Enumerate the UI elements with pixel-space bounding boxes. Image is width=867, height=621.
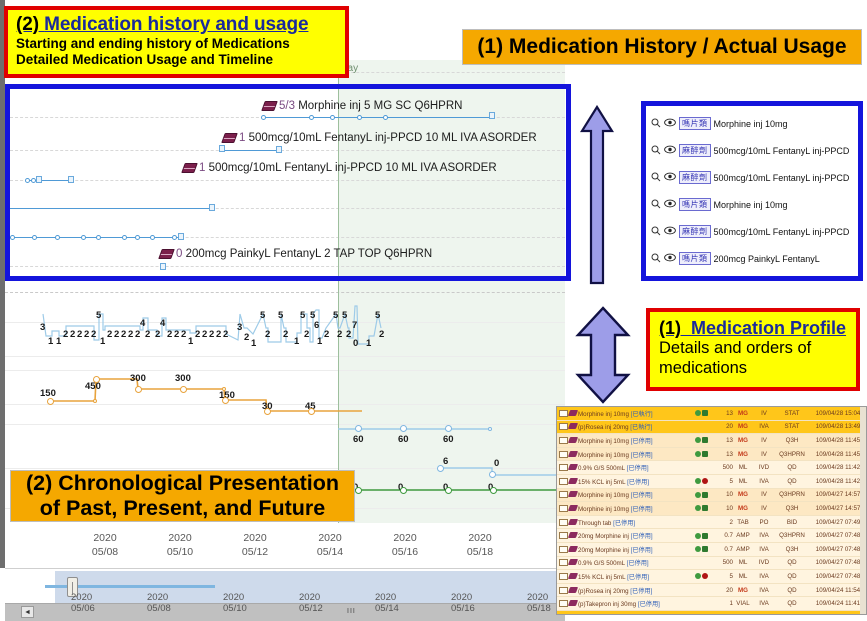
cell-medication-name: 15% KCL inj 5mL [已停用] — [577, 477, 695, 486]
order-category-chip: 嗎片類 — [679, 117, 711, 130]
table-row[interactable]: Morphine inj 10mg [已停用]13MGIVQ3HPRN109/0… — [557, 448, 866, 462]
bar-node[interactable] — [261, 115, 266, 120]
cell-unit: ML — [733, 573, 753, 580]
medication-icon — [568, 505, 577, 512]
dashboard-root: day 5/3 Morphine inj 5 MG SC Q6HPRN 1 50… — [0, 0, 867, 621]
cell-start-time: 109/04/24 11:41 — [809, 600, 867, 607]
status-badge — [702, 410, 708, 416]
cell-unit: VIAL — [733, 600, 753, 607]
status-badge — [695, 505, 701, 511]
cell-unit: AMP — [733, 532, 753, 539]
cell-start-time: 109/04/27 14:57 — [809, 505, 867, 512]
bar-node[interactable] — [32, 235, 37, 240]
cell-frequency: Q3H — [775, 437, 809, 444]
cell-start-time: 109/04/27 14:57 — [809, 491, 867, 498]
cell-quantity: 13 — [713, 437, 733, 444]
medication-icon — [568, 546, 577, 553]
minimap-grip[interactable]: III — [347, 608, 356, 615]
cell-unit: MG — [733, 505, 753, 512]
cell-route: IVD — [753, 464, 775, 471]
banner-line-1: (2) Chronological Presentation — [26, 471, 339, 496]
data-point[interactable] — [180, 386, 187, 393]
order-name: 500mcg/10mL FentanyL inj-PPCD — [714, 173, 857, 183]
table-row[interactable]: 0.9% G/S 500mL [已停用]500MLIVDQD109/04/28 … — [557, 461, 866, 475]
cell-start-time: 109/04/28 15:04 — [809, 410, 867, 417]
medication-icon — [568, 573, 577, 580]
cell-status-badges — [695, 451, 713, 457]
medication-icon — [568, 614, 577, 615]
cell-quantity: 20 — [713, 587, 733, 594]
order-list-item[interactable]: 嗎片類 200mcg PainkyL FentanyL — [648, 245, 856, 272]
axis-label: 202005/08 — [75, 531, 135, 559]
cell-route: IVA — [753, 478, 775, 485]
cell-medication-name: (p)Rosea inj 20mg [已執行] — [577, 422, 695, 431]
banner-line-2: of Past, Present, and Future — [26, 496, 339, 521]
cell-quantity: 20 — [713, 614, 733, 615]
dose-labels: 150 450 300 300 150 30 45 — [0, 368, 571, 428]
data-point[interactable] — [93, 399, 97, 403]
cell-frequency: STAT — [775, 423, 809, 430]
cell-unit: ML — [733, 464, 753, 471]
cell-route: IVA — [753, 423, 775, 430]
cell-medication-name: Morphine inj 10mg [已停用] — [577, 504, 695, 513]
data-point[interactable] — [355, 487, 362, 494]
cell-start-time: 109/04/28 13:49 — [809, 423, 867, 430]
cell-medication-name: Morphine inj 10mg [已停用] — [577, 450, 695, 459]
medication-icon — [568, 437, 577, 444]
cell-status-badges — [695, 546, 713, 552]
cell-medication-name: Through tab [已停用] — [577, 518, 695, 527]
bar-start-flag[interactable] — [219, 145, 225, 152]
bar-node[interactable] — [55, 235, 60, 240]
cell-route: IVA — [753, 532, 775, 539]
medication-icon — [568, 410, 577, 417]
axis-label: 202005/16 — [375, 531, 435, 559]
table-row[interactable]: (p)Rosea inj 20mg [已執行]20MGIVASTAT109/04… — [557, 421, 866, 435]
eye-icon[interactable] — [664, 118, 676, 129]
medication-icon — [568, 600, 577, 607]
data-point[interactable] — [489, 471, 496, 478]
data-point[interactable] — [47, 398, 54, 405]
status-badge — [702, 533, 708, 539]
cell-frequency: Q3H — [775, 546, 809, 553]
cell-status-badges — [695, 492, 713, 498]
medication-name: Morphine inj 5 MG SC Q6HPRN — [298, 100, 462, 112]
status-badge — [702, 573, 708, 579]
cell-status-badges — [695, 573, 713, 579]
medication-icon — [568, 587, 577, 594]
medication-label: 1 500mcg/10mL FentanyL inj-PPCD 10 ML IV… — [199, 162, 497, 174]
table-row[interactable]: Morphine inj 10mg [已停用]10MGIVQ3HPRN109/0… — [557, 489, 866, 503]
data-point[interactable] — [222, 397, 229, 404]
cell-status-badges — [695, 437, 713, 443]
eye-icon[interactable] — [664, 145, 676, 156]
medication-label: 1 500mcg/10mL FentanyL inj-PPCD 10 ML IV… — [239, 132, 537, 144]
status-badge — [695, 573, 701, 579]
cell-route: IV — [753, 491, 775, 498]
order-name: Morphine inj 10mg — [714, 200, 857, 210]
eye-icon[interactable] — [664, 253, 676, 264]
order-category-chip: 嗎片類 — [679, 252, 711, 265]
row-checkbox[interactable] — [559, 478, 568, 485]
callout-title: (1) Medication Profile — [659, 318, 847, 339]
status-badge — [695, 533, 701, 539]
minimap-date: 202005/16 — [451, 592, 475, 615]
table-row[interactable]: 20mg Morphine inj [已停用]0.7AMPIVAQ3H109/0… — [557, 543, 866, 557]
cell-route: IVA — [753, 573, 775, 580]
row-checkbox[interactable] — [559, 491, 568, 498]
medication-icon — [568, 519, 577, 526]
table-row[interactable]: Morphine inj 10mg [已停用]10MGIVQ3H109/04/2… — [557, 502, 866, 516]
cell-start-time: 109/04/24 11:54 — [809, 587, 867, 594]
bar-flag[interactable] — [36, 176, 42, 183]
cell-route: IV — [753, 410, 775, 417]
cell-unit: MG — [733, 410, 753, 417]
cell-quantity: 20 — [713, 423, 733, 430]
cell-quantity: 500 — [713, 464, 733, 471]
data-point[interactable] — [490, 487, 497, 494]
row-checkbox[interactable] — [559, 532, 568, 539]
row-checkbox[interactable] — [559, 423, 568, 430]
banner-medication-history-actual-usage: (1) Medication History / Actual Usage — [462, 29, 862, 65]
bar-node[interactable] — [383, 115, 388, 120]
medication-icon — [181, 163, 198, 173]
medication-date: 0 — [176, 248, 182, 260]
row-checkbox[interactable] — [559, 451, 568, 458]
search-icon[interactable] — [651, 226, 661, 238]
cell-start-time: 109/04/27 07:48 — [809, 532, 867, 539]
cell-start-time: 109/04/28 11:45 — [809, 451, 867, 458]
status-badge — [695, 437, 701, 443]
row-checkbox[interactable] — [559, 464, 568, 471]
row-checkbox[interactable] — [559, 600, 568, 607]
cell-route: IVA — [753, 546, 775, 553]
cell-medication-name: 15% KCL inj 5mL [已停用] — [577, 572, 695, 581]
cell-route: PO — [753, 519, 775, 526]
cell-unit: AMP — [733, 546, 753, 553]
cell-route: IVA — [753, 614, 775, 615]
cell-medication-name: (p)Rosea inj 20mg [已執行] — [577, 613, 695, 615]
search-icon[interactable] — [651, 253, 661, 265]
data-point[interactable] — [355, 425, 362, 432]
status-badge — [695, 410, 701, 416]
medication-name: 500mcg/10mL FentanyL inj-PPCD 10 ML IVA … — [249, 132, 537, 144]
callout-line-1: Details and orders of — [659, 339, 847, 358]
medication-date: 1 — [239, 132, 245, 144]
axis-label: 202005/14 — [300, 531, 360, 559]
cell-quantity: 5 — [713, 573, 733, 580]
cell-medication-name: Morphine inj 10mg [已執行] — [577, 409, 695, 418]
cell-medication-name: 20mg Morphine inj [已停用] — [577, 545, 695, 554]
search-icon[interactable] — [651, 199, 661, 211]
date-axis: 202005/08 202005/10 202005/12 202005/14 … — [5, 523, 565, 568]
cell-status-badges — [695, 410, 713, 416]
data-point[interactable] — [308, 408, 315, 415]
axis-label: 202005/10 — [150, 531, 210, 559]
minimap-date: 202005/10 — [223, 592, 247, 615]
cell-start-time: 109/04/28 11:42 — [809, 464, 867, 471]
scroll-left-button[interactable]: ◄ — [21, 606, 34, 618]
medication-icon — [158, 249, 175, 259]
bar-start-flag[interactable] — [160, 263, 166, 270]
table-row[interactable]: Through tab [已停用]2TABPOBID109/04/27 07:4… — [557, 516, 866, 530]
status-badge — [702, 478, 708, 484]
cell-frequency: Q3HPRN — [775, 491, 809, 498]
medication-bar[interactable] — [10, 208, 211, 209]
order-list-item[interactable]: 嗎片類 Morphine inj 10mg — [648, 191, 856, 218]
row-checkbox[interactable] — [559, 519, 568, 526]
cell-unit: MG — [733, 614, 753, 615]
cell-medication-name: 20mg Morphine inj [已停用] — [577, 531, 695, 540]
cell-route: IV — [753, 451, 775, 458]
cell-frequency: QD — [775, 464, 809, 471]
medication-date: 1 — [199, 162, 205, 174]
cell-start-time: 109/04/27 07:48 — [809, 559, 867, 566]
cell-frequency: QD — [775, 600, 809, 607]
bar-node[interactable] — [122, 235, 127, 240]
cell-frequency: STAT — [775, 410, 809, 417]
cell-status-badges — [695, 533, 713, 539]
order-name: 500mcg/10mL FentanyL inj-PPCD — [714, 227, 857, 237]
row-checkbox[interactable] — [559, 614, 568, 615]
cell-unit: ML — [733, 478, 753, 485]
medication-icon — [568, 478, 577, 485]
order-list-item[interactable]: 麻醉劑 500mcg/10mL FentanyL inj-PPCD — [648, 218, 856, 245]
cell-frequency: QD — [775, 478, 809, 485]
medication-label: 5/3 Morphine inj 5 MG SC Q6HPRN — [279, 100, 462, 112]
cell-unit: MG — [733, 423, 753, 430]
banner-chronological-presentation: (2) Chronological Presentation of Past, … — [10, 470, 355, 522]
order-list-item[interactable]: 麻醉劑 500mcg/10mL FentanyL inj-PPCD — [648, 137, 856, 164]
cell-medication-name: Morphine inj 10mg [已停用] — [577, 436, 695, 445]
cell-frequency: QD — [775, 587, 809, 594]
callout-line-2: medications — [659, 359, 847, 378]
data-point[interactable] — [400, 425, 407, 432]
cell-status-badges — [695, 478, 713, 484]
medication-icon — [568, 559, 577, 566]
medication-name: 200mcg PainkyL FentanyL 2 TAP TOP Q6HPRN — [186, 248, 433, 260]
cell-route: IV — [753, 437, 775, 444]
bar-node[interactable] — [150, 235, 155, 240]
cell-start-time: 109/04/28 11:45 — [809, 437, 867, 444]
cell-quantity: 10 — [713, 505, 733, 512]
cell-quantity: 13 — [713, 410, 733, 417]
callout-medication-profile: (1) Medication Profile Details and order… — [646, 308, 860, 391]
cell-unit: MG — [733, 491, 753, 498]
cell-frequency: BID — [775, 519, 809, 526]
table-row[interactable]: Morphine inj 10mg [已停用]13MGIVQ3H109/04/2… — [557, 434, 866, 448]
gridline — [5, 292, 565, 293]
bar-node[interactable] — [309, 115, 314, 120]
cell-unit: ML — [733, 559, 753, 566]
cell-quantity: 0.7 — [713, 546, 733, 553]
cell-quantity: 0.7 — [713, 532, 733, 539]
status-badge — [695, 492, 701, 498]
minimap-date: 202005/08 — [147, 592, 171, 615]
cell-start-time: 109/04/28 11:42 — [809, 478, 867, 485]
bar-node[interactable] — [330, 115, 335, 120]
data-point[interactable] — [437, 465, 444, 472]
order-category-chip: 嗎片類 — [679, 198, 711, 211]
cell-route: IVD — [753, 559, 775, 566]
callout-line-1: Starting and ending history of Medicatio… — [16, 36, 337, 52]
cell-route: IVA — [753, 600, 775, 607]
bar-end-flag[interactable] — [276, 146, 282, 153]
data-point[interactable] — [400, 487, 407, 494]
table-row[interactable]: 0.9% G/S 500mL [已停用]500MLIVDQD109/04/27 … — [557, 557, 866, 571]
cell-medication-name: Morphine inj 10mg [已停用] — [577, 490, 695, 499]
cell-unit: MG — [733, 451, 753, 458]
bar-node[interactable] — [81, 235, 86, 240]
pain-score-labels: 3 1 1 2 2 2 2 2 5 1 2 2 2 2 2 4 2 2 4 2 … — [0, 298, 571, 368]
table-body: Morphine inj 10mg [已執行]13MGIVSTAT109/04/… — [557, 407, 866, 615]
table-scrollbar[interactable] — [860, 407, 866, 614]
medication-icon — [221, 133, 238, 143]
minimap-date: 202005/12 — [299, 592, 323, 615]
medication-icon — [568, 423, 577, 430]
axis-label: 202005/12 — [225, 531, 285, 559]
cell-medication-name: 0.9% G/S 500mL [已停用] — [577, 463, 695, 472]
callout-title: (2) Medication history and usage — [16, 14, 337, 36]
cell-medication-name: (p)Rosea inj 20mg [已停用] — [577, 586, 695, 595]
medication-bar[interactable] — [225, 150, 278, 151]
callout-medication-history: (2) Medication history and usage Startin… — [4, 6, 349, 78]
bar-node[interactable] — [135, 235, 140, 240]
cell-quantity: 13 — [713, 451, 733, 458]
medication-icon — [568, 451, 577, 458]
row-checkbox[interactable] — [559, 437, 568, 444]
cell-medication-name: (p)Takepron inj 30mg [已停用] — [577, 599, 695, 608]
status-badge — [702, 505, 708, 511]
cell-quantity: 500 — [713, 559, 733, 566]
medication-icon — [261, 101, 278, 111]
status-badge — [695, 478, 701, 484]
cell-quantity: 1 — [713, 600, 733, 607]
bar-node[interactable] — [357, 115, 362, 120]
order-name: 500mcg/10mL FentanyL inj-PPCD — [714, 146, 857, 156]
axis-label: 202005/18 — [450, 531, 510, 559]
order-name: Morphine inj 10mg — [714, 119, 857, 129]
medication-icon — [568, 464, 577, 471]
medication-orders-list: 嗎片類 Morphine inj 10mg 麻醉劑 500mcg/10mL Fe… — [648, 108, 856, 274]
data-point[interactable] — [93, 376, 100, 383]
minimap-date: 202005/14 — [375, 592, 399, 615]
data-point[interactable] — [445, 487, 452, 494]
order-name: 200mcg PainkyL FentanyL — [714, 254, 857, 264]
row-checkbox[interactable] — [559, 410, 568, 417]
table-row[interactable]: 20mg Morphine inj [已停用]0.7AMPIVAQ3HPRN10… — [557, 529, 866, 543]
order-category-chip: 麻醉劑 — [679, 144, 711, 157]
bar-node[interactable] — [172, 235, 177, 240]
eye-icon[interactable] — [664, 172, 676, 183]
table-row[interactable]: (p)Takepron inj 30mg [已停用]1VIALIVAQD109/… — [557, 597, 866, 611]
cell-route: IVA — [753, 587, 775, 594]
row-checkbox[interactable] — [559, 587, 568, 594]
row-checkbox[interactable] — [559, 505, 568, 512]
search-icon[interactable] — [651, 145, 661, 157]
bar-node[interactable] — [10, 235, 15, 240]
bar-end-flag[interactable] — [178, 233, 184, 240]
row-checkbox[interactable] — [559, 573, 568, 580]
status-badge — [695, 546, 701, 552]
table-row[interactable]: (p)Rosea inj 20mg [已停用]20MGIVAQD109/04/2… — [557, 584, 866, 598]
minimap-date: 202005/18 — [527, 592, 551, 615]
medication-order-table[interactable]: Morphine inj 10mg [已執行]13MGIVSTAT109/04/… — [556, 406, 867, 615]
table-row[interactable]: Morphine inj 10mg [已執行]13MGIVSTAT109/04/… — [557, 407, 866, 421]
cell-medication-name: 0.9% G/S 500mL [已停用] — [577, 558, 695, 567]
cell-start-time: 109/04/24 11:41 — [809, 614, 867, 615]
cell-unit: MG — [733, 437, 753, 444]
data-point[interactable] — [445, 425, 452, 432]
medication-bar[interactable] — [263, 117, 491, 118]
row-checkbox[interactable] — [559, 546, 568, 553]
bar-end-flag[interactable] — [489, 112, 495, 119]
medication-date: 5/3 — [279, 100, 295, 112]
cell-quantity: 2 — [713, 519, 733, 526]
medication-name: 500mcg/10mL FentanyL inj-PPCD 10 ML IVA … — [209, 162, 497, 174]
row-checkbox[interactable] — [559, 559, 568, 566]
table-row[interactable]: (p)Rosea inj 20mg [已執行]20MGIVASTAT109/04… — [557, 611, 866, 615]
cell-frequency: STAT — [775, 614, 809, 615]
eye-icon[interactable] — [664, 226, 676, 237]
cell-frequency: Q3HPRN — [775, 451, 809, 458]
cell-frequency: QD — [775, 573, 809, 580]
cell-quantity: 10 — [713, 491, 733, 498]
data-point[interactable] — [135, 386, 142, 393]
cell-start-time: 109/04/27 07:48 — [809, 573, 867, 580]
bar-node[interactable] — [25, 178, 30, 183]
cell-start-time: 109/04/27 07:49 — [809, 519, 867, 526]
medication-icon — [568, 532, 577, 539]
order-category-chip: 麻醉劑 — [679, 225, 711, 238]
table-row[interactable]: 15% KCL inj 5mL [已停用]5MLIVAQD109/04/27 0… — [557, 570, 866, 584]
minimap-date: 202005/06 — [71, 592, 95, 615]
bar-end-flag[interactable] — [209, 204, 215, 211]
order-list-item[interactable]: 嗎片類 Morphine inj 10mg — [648, 110, 856, 137]
status-badge — [702, 451, 708, 457]
search-icon[interactable] — [651, 118, 661, 130]
status-badge — [702, 437, 708, 443]
cell-unit: TAB — [733, 519, 753, 526]
status-badge — [702, 546, 708, 552]
cell-start-time: 109/04/27 07:48 — [809, 546, 867, 553]
data-point[interactable] — [488, 427, 492, 431]
status-badge — [695, 451, 701, 457]
cell-unit: MG — [733, 587, 753, 594]
order-list-item[interactable]: 麻醉劑 500mcg/10mL FentanyL inj-PPCD — [648, 164, 856, 191]
up-down-arrow — [575, 305, 631, 405]
medication-icon — [568, 491, 577, 498]
cell-frequency: Q3HPRN — [775, 532, 809, 539]
status-badge — [702, 492, 708, 498]
timeline-minimap[interactable]: ◄ III 202005/06 202005/08 202005/10 2020… — [5, 568, 565, 621]
search-icon[interactable] — [651, 172, 661, 184]
cell-status-badges — [695, 505, 713, 511]
table-row[interactable]: 15% KCL inj 5mL [已停用]5MLIVAQD109/04/28 1… — [557, 475, 866, 489]
order-category-chip: 麻醉劑 — [679, 171, 711, 184]
cell-frequency: QD — [775, 559, 809, 566]
bar-node[interactable] — [96, 235, 101, 240]
cell-route: IV — [753, 505, 775, 512]
cell-frequency: Q3H — [775, 505, 809, 512]
cell-quantity: 5 — [713, 478, 733, 485]
eye-icon[interactable] — [664, 199, 676, 210]
up-arrow — [580, 105, 614, 285]
bar-end-flag[interactable] — [68, 176, 74, 183]
data-point[interactable] — [264, 408, 271, 415]
medication-label: 0 200mcg PainkyL FentanyL 2 TAP TOP Q6HP… — [176, 248, 432, 260]
callout-line-2: Detailed Medication Usage and Timeline — [16, 52, 337, 68]
